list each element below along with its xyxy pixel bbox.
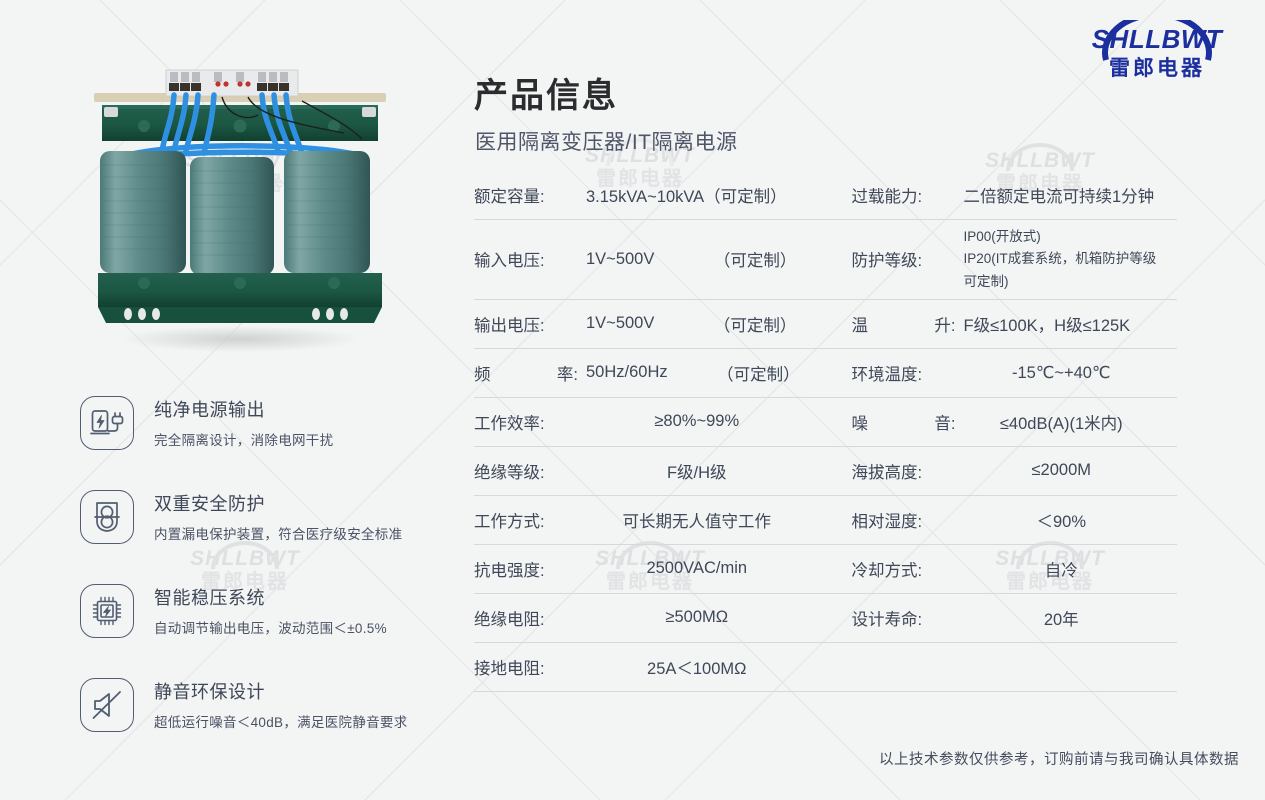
spec-value: 50Hz/60Hz: [582, 363, 705, 382]
spec-label: 海拔高度:: [852, 459, 960, 483]
spec-cell: [826, 643, 1178, 691]
feature-desc: 完全隔离设计，消除电网干扰: [154, 429, 333, 449]
spec-cell: 海拔高度: ≤2000M: [826, 447, 1178, 495]
table-row: 绝缘等级: F级/H级 海拔高度: ≤2000M: [474, 447, 1177, 496]
spec-value-extra: （可定制）: [705, 361, 825, 385]
table-row: 输入电压: 1V~500V （可定制） 防护等级: IP00(开放式) IP20…: [474, 220, 1177, 300]
spec-cell: 输入电压: 1V~500V （可定制）: [474, 220, 826, 299]
spec-label: 绝缘电阻:: [474, 606, 582, 630]
spec-value: 25A＜100MΩ: [582, 655, 826, 679]
spec-label: 抗电强度:: [474, 557, 582, 581]
spec-value: -15℃~+40℃: [960, 363, 1178, 383]
feature-item: 静音环保设计 超低运行噪音＜40dB，满足医院静音要求: [80, 678, 470, 772]
spec-cell: 冷却方式: 自冷: [826, 545, 1178, 593]
table-row: 抗电强度: 2500VAC/min 冷却方式: 自冷: [474, 545, 1177, 594]
feature-title: 智能稳压系统: [154, 586, 387, 610]
feature-desc: 超低运行噪音＜40dB，满足医院静音要求: [154, 711, 408, 731]
page-subtitle: 医用隔离变压器/IT隔离电源: [475, 126, 738, 156]
feature-icon-frame: [80, 678, 134, 732]
product-photo-transformer: [62, 55, 422, 365]
chip-regulator-icon: [91, 595, 123, 627]
spec-value: 20年: [960, 606, 1178, 630]
spec-label: 防护等级:: [852, 247, 960, 271]
table-row: 频 率: 50Hz/60Hz （可定制） 环境温度: -15℃~+40℃: [474, 349, 1177, 398]
spec-cell: 工作方式: 可长期无人值守工作: [474, 496, 826, 544]
spec-label-part: 升:: [934, 312, 955, 336]
feature-item: 纯净电源输出 完全隔离设计，消除电网干扰: [80, 396, 470, 490]
table-row: 输出电压: 1V~500V （可定制） 温 升: F级≤100K，H级≤125K: [474, 300, 1177, 349]
spec-value: ＜90%: [960, 508, 1178, 532]
feature-title: 纯净电源输出: [154, 398, 333, 422]
table-row: 接地电阻: 25A＜100MΩ: [474, 643, 1177, 692]
spec-value: IP00(开放式) IP20(IT成套系统，机箱防护等级可定制): [960, 226, 1178, 293]
spec-value: 1V~500V: [582, 314, 699, 333]
feature-icon-frame: [80, 584, 134, 638]
spec-cell: 工作效率: ≥80%~99%: [474, 398, 826, 446]
feature-icon-frame: [80, 396, 134, 450]
spec-cell: 温 升: F级≤100K，H级≤125K: [826, 300, 1178, 348]
brand-logo: SHLLBWT 雷郎电器: [1071, 26, 1243, 81]
spec-cell: 环境温度: -15℃~+40℃: [826, 349, 1178, 397]
transformer-coils: [100, 151, 370, 275]
spec-cell: 抗电强度: 2500VAC/min: [474, 545, 826, 593]
spec-value: ≤2000M: [960, 461, 1178, 480]
spec-cell: 额定容量: 3.15kVA~10kVA（可定制）: [474, 171, 826, 219]
spec-cell: 噪 音: ≤40dB(A)(1米内): [826, 398, 1178, 446]
spec-value: 自冷: [960, 557, 1178, 581]
spec-value-line: IP20(IT成套系统，机箱防护等级可定制): [964, 248, 1164, 293]
spec-cell: 过载能力: 二倍额定电流可持续1分钟: [826, 171, 1178, 219]
spec-label: 设计寿命:: [852, 606, 960, 630]
table-row: 工作效率: ≥80%~99% 噪 音: ≤40dB(A)(1米内): [474, 398, 1177, 447]
spec-value: 二倍额定电流可持续1分钟: [960, 183, 1178, 207]
safety-shield-icon: [92, 501, 122, 533]
spec-cell: 接地电阻: 25A＜100MΩ: [474, 643, 826, 691]
spec-table: 额定容量: 3.15kVA~10kVA（可定制） 过载能力: 二倍额定电流可持续…: [474, 171, 1177, 692]
spec-value: ≥80%~99%: [582, 412, 826, 431]
spec-label: 输入电压:: [474, 247, 582, 271]
spec-cell: 相对湿度: ＜90%: [826, 496, 1178, 544]
spec-cell: 绝缘电阻: ≥500MΩ: [474, 594, 826, 642]
spec-label: 温 升:: [852, 312, 960, 336]
feature-desc: 自动调节输出电压，波动范围＜±0.5%: [154, 617, 387, 637]
spec-value-line: IP00(开放式): [964, 226, 1164, 248]
feature-text: 静音环保设计 超低运行噪音＜40dB，满足医院静音要求: [154, 678, 408, 731]
spec-cell: 防护等级: IP00(开放式) IP20(IT成套系统，机箱防护等级可定制): [826, 220, 1178, 299]
spec-value: 可长期无人值守工作: [582, 508, 826, 532]
spec-value: ≤40dB(A)(1米内): [960, 410, 1178, 434]
spec-label-part: 率:: [557, 361, 578, 385]
spec-label: 额定容量:: [474, 183, 582, 207]
feature-text: 智能稳压系统 自动调节输出电压，波动范围＜±0.5%: [154, 584, 387, 637]
spec-cell: 设计寿命: 20年: [826, 594, 1178, 642]
spec-value: 1V~500V: [582, 250, 699, 269]
spec-label: 输出电压:: [474, 312, 582, 336]
feature-title: 静音环保设计: [154, 680, 408, 704]
spec-label: 绝缘等级:: [474, 459, 582, 483]
spec-label: 噪 音:: [852, 410, 960, 434]
feature-title: 双重安全防护: [154, 492, 402, 516]
spec-value: ≥500MΩ: [582, 608, 826, 627]
feature-text: 双重安全防护 内置漏电保护装置，符合医疗级安全标准: [154, 490, 402, 543]
spec-value: 3.15kVA~10kVA（可定制）: [582, 183, 826, 207]
feature-text: 纯净电源输出 完全隔离设计，消除电网干扰: [154, 396, 333, 449]
spec-value: F级/H级: [582, 459, 826, 483]
table-row: 工作方式: 可长期无人值守工作 相对湿度: ＜90%: [474, 496, 1177, 545]
spec-label-part: 频: [474, 361, 491, 385]
spec-value: F级≤100K，H级≤125K: [960, 312, 1178, 336]
spec-label: 相对湿度:: [852, 508, 960, 532]
spec-label: 冷却方式:: [852, 557, 960, 581]
spec-cell: 输出电压: 1V~500V （可定制）: [474, 300, 826, 348]
page-title: 产品信息: [474, 68, 618, 117]
spec-cell: 绝缘等级: F级/H级: [474, 447, 826, 495]
table-row: 额定容量: 3.15kVA~10kVA（可定制） 过载能力: 二倍额定电流可持续…: [474, 171, 1177, 220]
spec-label-part: 音:: [934, 410, 955, 434]
product-shadow: [120, 326, 360, 352]
spec-value: 2500VAC/min: [582, 559, 826, 578]
spec-label: 工作效率:: [474, 410, 582, 434]
table-row: 绝缘电阻: ≥500MΩ 设计寿命: 20年: [474, 594, 1177, 643]
spec-label-part: 噪: [852, 410, 869, 434]
spec-label-part: 温: [852, 312, 869, 336]
feature-icon-frame: [80, 490, 134, 544]
feature-item: 双重安全防护 内置漏电保护装置，符合医疗级安全标准: [80, 490, 470, 584]
spec-label: 频 率:: [474, 361, 582, 385]
logo-text-en: SHLLBWT: [1071, 26, 1243, 52]
spec-label: 环境温度:: [852, 361, 960, 385]
power-plug-icon: [90, 408, 124, 438]
mute-speaker-icon: [91, 690, 123, 720]
spec-label: 过载能力:: [852, 183, 960, 207]
feature-desc: 内置漏电保护装置，符合医疗级安全标准: [154, 523, 402, 543]
spec-value-extra: （可定制）: [699, 312, 826, 336]
spec-value-extra: （可定制）: [699, 247, 826, 271]
feature-list: 纯净电源输出 完全隔离设计，消除电网干扰 双重安全防护 内置漏电: [80, 396, 470, 772]
footer-note: 以上技术参数仅供参考，订购前请与我司确认具体数据: [879, 748, 1239, 769]
spec-cell: 频 率: 50Hz/60Hz （可定制）: [474, 349, 826, 397]
spec-label: 接地电阻:: [474, 655, 582, 679]
spec-label: 工作方式:: [474, 508, 582, 532]
feature-item: 智能稳压系统 自动调节输出电压，波动范围＜±0.5%: [80, 584, 470, 678]
circuit-breakers: [166, 70, 298, 96]
